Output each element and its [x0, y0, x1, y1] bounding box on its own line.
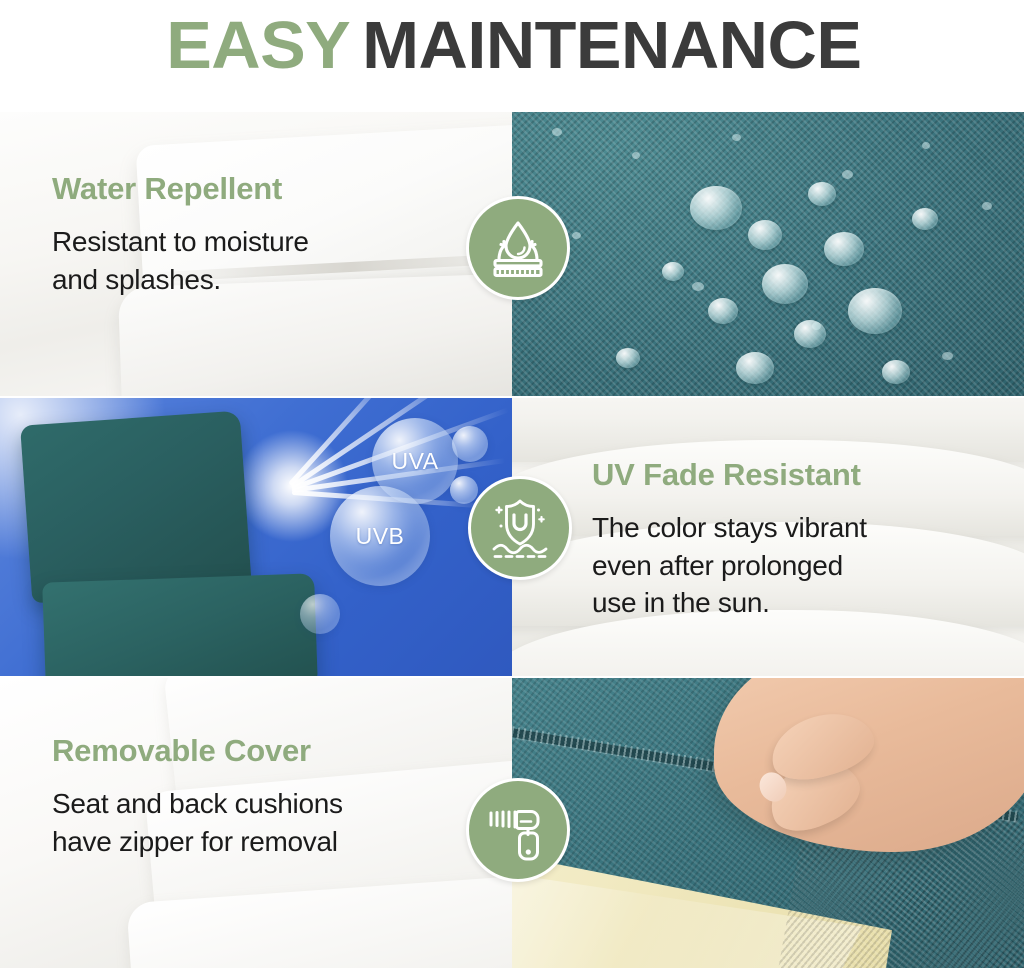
- title-word-maintenance: MAINTENANCE: [362, 12, 861, 79]
- water-mist: [632, 152, 640, 159]
- water-droplet: [882, 360, 910, 384]
- zipper-icon: [483, 795, 553, 865]
- water-mist: [942, 352, 953, 360]
- hand: [714, 678, 1024, 852]
- uv-fade-resistant-title: UV Fade Resistant: [592, 458, 867, 492]
- water-mist: [552, 128, 562, 136]
- water-droplet: [708, 298, 738, 324]
- teal-fabric-water-beads-photo: [512, 112, 1024, 396]
- water-mist: [572, 232, 581, 239]
- water-mist: [692, 282, 704, 291]
- water-droplet: [808, 182, 836, 206]
- uva-label: UVA: [391, 448, 438, 475]
- water-repellent-text-block: Water Repellent Resistant to moisture an…: [52, 172, 309, 298]
- water-droplet-on-fabric-icon: [484, 214, 552, 282]
- water-repellent-body: Resistant to moisture and splashes.: [52, 223, 309, 298]
- uv-fade-resistant-body: The color stays vibrant even after prolo…: [592, 509, 867, 622]
- infographic-page: EASY MAINTENANCE: [0, 0, 1024, 968]
- page-title: EASY MAINTENANCE: [0, 0, 1024, 90]
- teal-back-cushion: [20, 411, 252, 604]
- small-bubble: [300, 594, 340, 634]
- hand-opening-zipper-photo: [512, 678, 1024, 968]
- title-word-easy: EASY: [166, 12, 350, 79]
- small-bubble: [450, 476, 478, 504]
- uv-fade-resistant-badge: [468, 476, 572, 580]
- water-droplet: [762, 264, 808, 304]
- water-mist: [842, 170, 853, 179]
- uvb-bubble: UVB: [330, 486, 430, 586]
- water-mist: [732, 134, 741, 141]
- water-repellent-photo-right: [512, 112, 1024, 396]
- water-droplet: [824, 232, 864, 266]
- removable-cover-badge: [466, 778, 570, 882]
- water-mist: [922, 142, 930, 149]
- uv-shield-icon: [485, 493, 555, 563]
- water-repellent-badge: [466, 196, 570, 300]
- water-repellent-title: Water Repellent: [52, 172, 309, 206]
- removable-cover-title: Removable Cover: [52, 734, 343, 768]
- water-droplet: [848, 288, 902, 334]
- uv-fade-resistant-text-block: UV Fade Resistant The color stays vibran…: [592, 458, 867, 622]
- water-droplet: [736, 352, 774, 384]
- removable-cover-photo-right: [512, 678, 1024, 968]
- removable-cover-text-block: Removable Cover Seat and back cushions h…: [52, 734, 343, 860]
- removable-cover-body: Seat and back cushions have zipper for r…: [52, 785, 343, 860]
- uv-fade-photo-left: UVA UVB: [0, 398, 512, 676]
- water-droplet: [616, 348, 640, 368]
- water-droplet: [912, 208, 938, 230]
- water-droplet: [748, 220, 782, 250]
- water-droplet: [690, 186, 742, 230]
- small-bubble: [452, 426, 488, 462]
- water-mist: [982, 202, 992, 210]
- teal-seat-cushion: [42, 573, 318, 676]
- water-droplet: [794, 320, 826, 348]
- uvb-label: UVB: [356, 523, 405, 550]
- teal-cushion-sunlight-photo: UVA UVB: [0, 398, 512, 676]
- water-droplet: [662, 262, 684, 281]
